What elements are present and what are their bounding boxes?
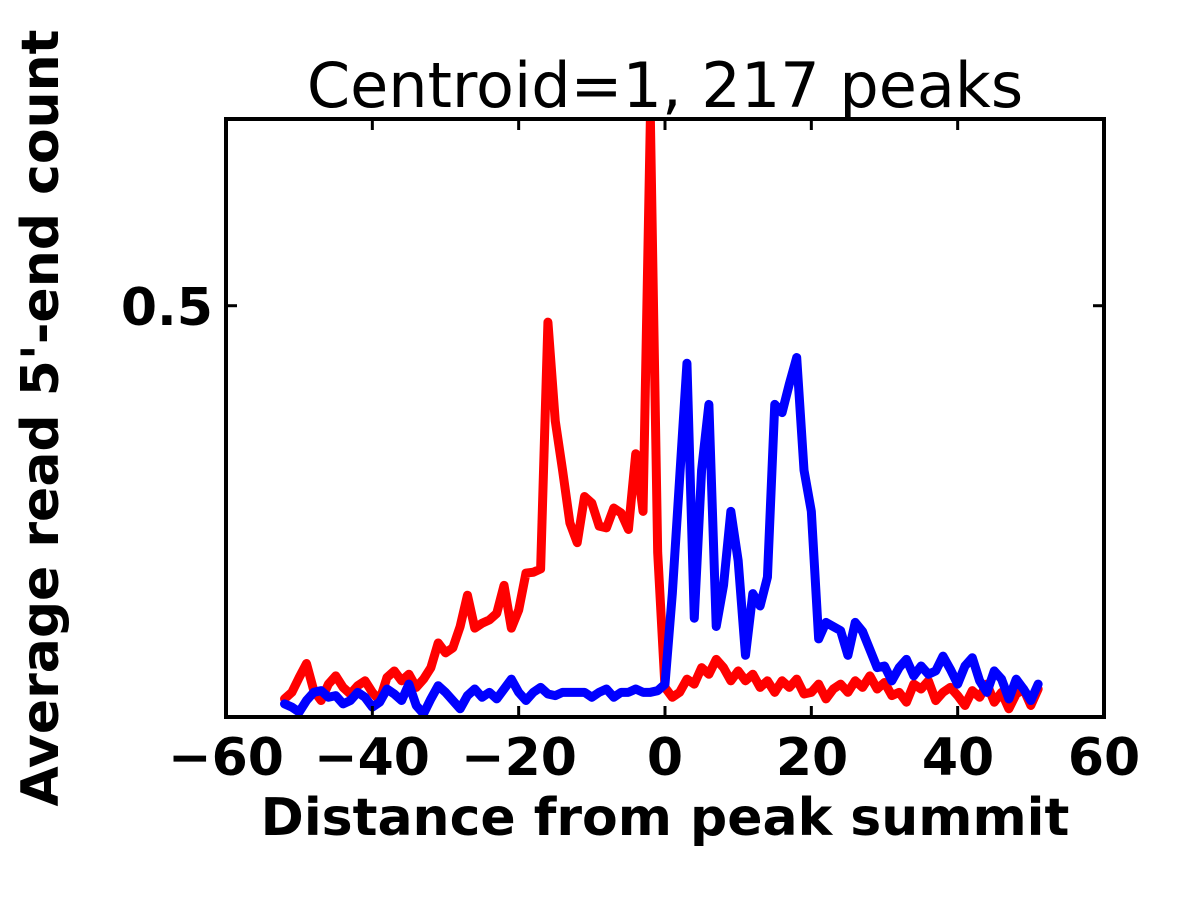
x-tick-label-40: 40	[922, 728, 994, 788]
x-tick-label-20: 20	[776, 728, 848, 788]
line-chart: Centroid=1, 217 peaks −60 −40 −20 0 20 4…	[0, 0, 1200, 900]
x-tick-label-minus20: −20	[461, 728, 577, 788]
x-tick-label-0: 0	[647, 728, 683, 788]
chart-title: Centroid=1, 217 peaks	[307, 49, 1023, 122]
x-tick-label-60: 60	[1068, 728, 1140, 788]
y-tick-label-0point5: 0.5	[121, 278, 213, 338]
figure-canvas: Centroid=1, 217 peaks −60 −40 −20 0 20 4…	[0, 0, 1200, 900]
x-axis-label: Distance from peak summit	[261, 788, 1070, 848]
x-tick-label-minus60: −60	[168, 728, 284, 788]
x-tick-label-minus40: −40	[314, 728, 430, 788]
y-axis-label: Average read 5'-end count	[11, 30, 71, 807]
